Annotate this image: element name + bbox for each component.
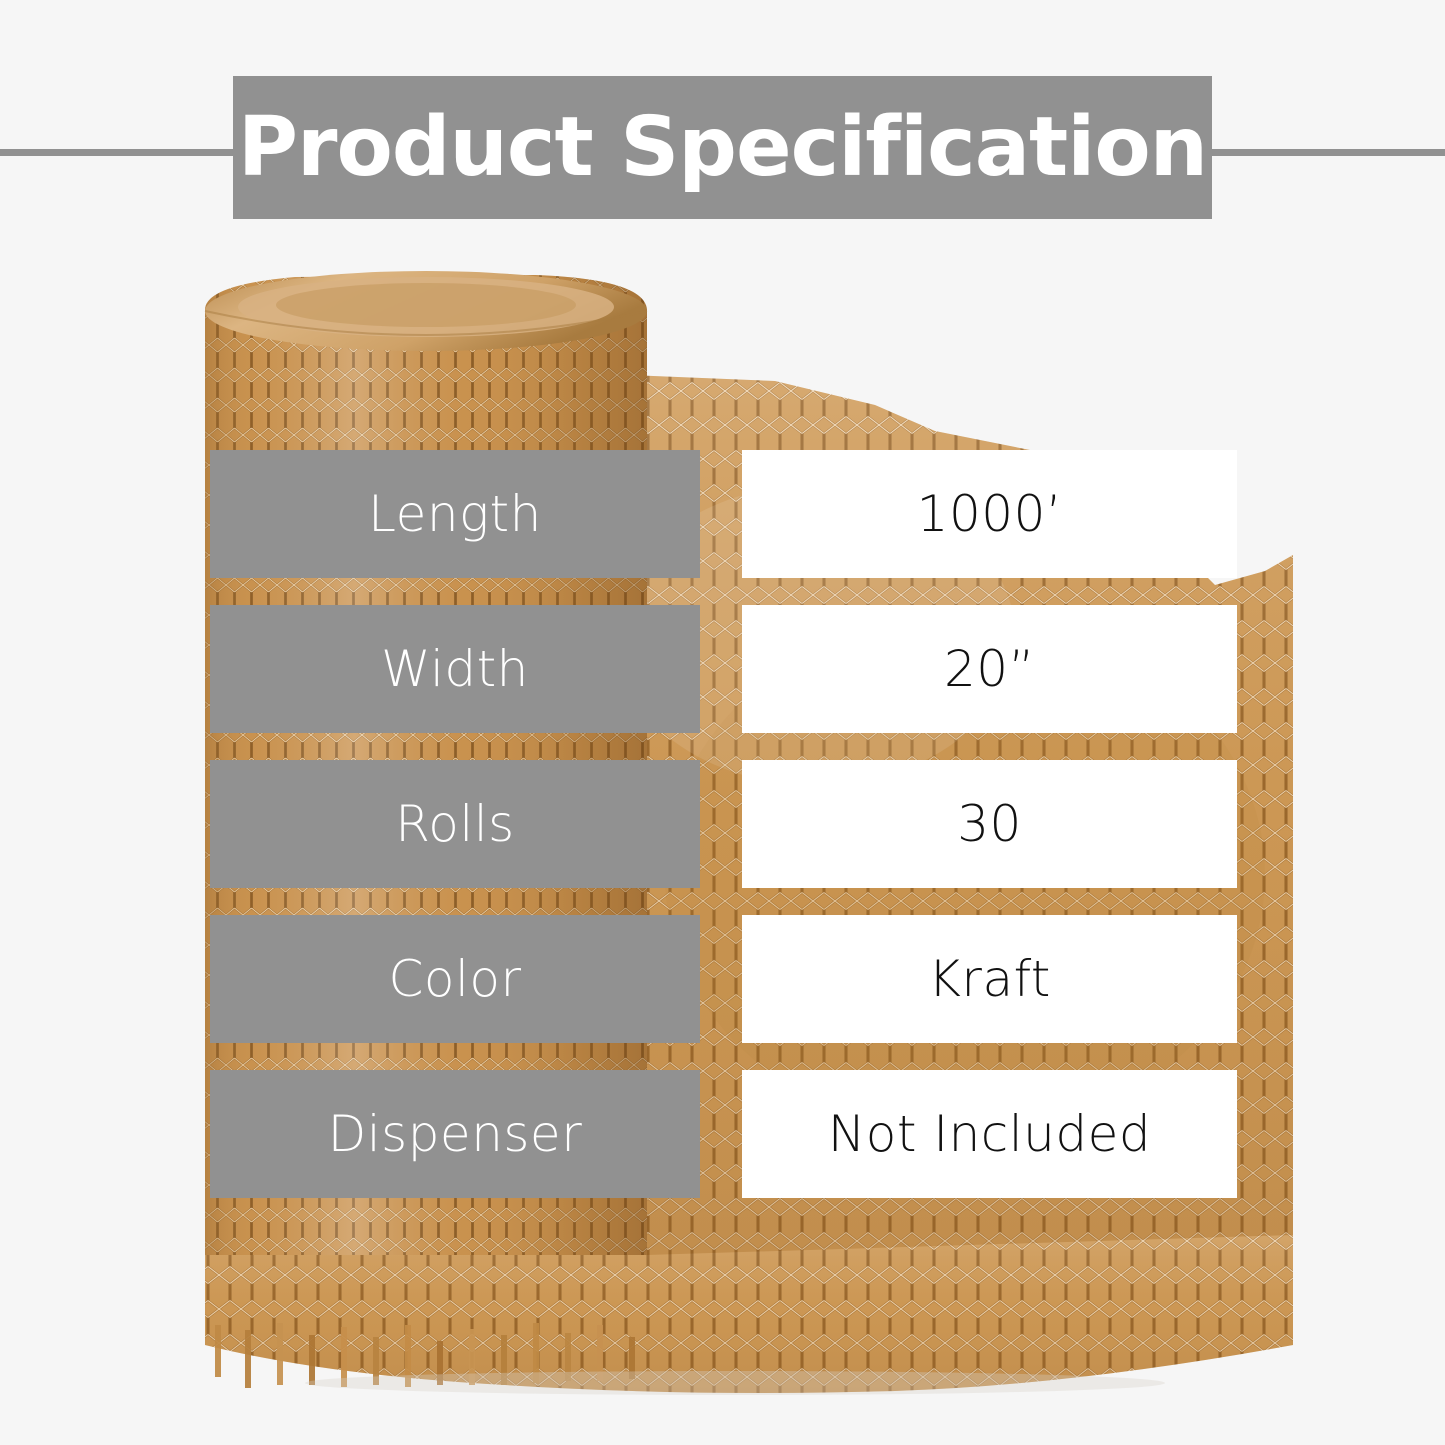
spec-value-rolls: 30	[742, 760, 1237, 888]
spec-value-length: 1000’	[742, 450, 1237, 578]
spec-value-text: Not Included	[828, 1105, 1151, 1163]
spec-label-rolls: Rolls	[210, 760, 700, 888]
spec-label-text: Color	[388, 950, 521, 1008]
spec-value-text: 30	[957, 795, 1022, 853]
product-specification-card: Product Specification	[0, 0, 1445, 1445]
spec-label-text: Length	[368, 485, 542, 543]
spec-value-text: Kraft	[928, 950, 1051, 1008]
title-rule-right	[1200, 149, 1445, 156]
page-title-banner: Product Specification	[233, 76, 1212, 219]
title-rule-left	[0, 149, 245, 156]
spec-label-text: Width	[381, 640, 529, 698]
spec-label-color: Color	[210, 915, 700, 1043]
spec-value-dispenser: Not Included	[742, 1070, 1237, 1198]
spec-label-width: Width	[210, 605, 700, 733]
page-title: Product Specification	[238, 107, 1207, 189]
spec-value-width: 20”	[742, 605, 1237, 733]
spec-value-text: 1000’	[917, 485, 1063, 543]
spec-value-color: Kraft	[742, 915, 1237, 1043]
spec-label-dispenser: Dispenser	[210, 1070, 700, 1198]
spec-label-text: Dispenser	[328, 1105, 583, 1163]
spec-label-length: Length	[210, 450, 700, 578]
spec-label-text: Rolls	[395, 795, 514, 853]
spec-value-text: 20”	[944, 640, 1035, 698]
